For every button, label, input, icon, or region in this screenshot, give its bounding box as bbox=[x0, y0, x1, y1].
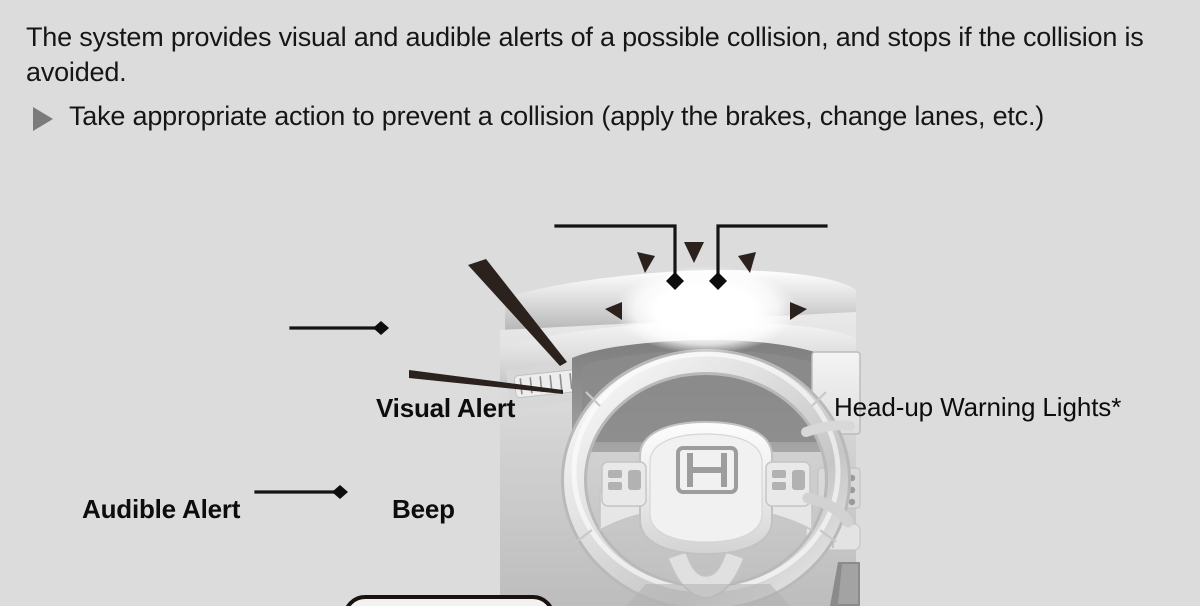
intro-paragraph: The system provides visual and audible a… bbox=[26, 20, 1176, 90]
head-up-warning-light-glow bbox=[614, 266, 798, 354]
label-head-up-warning-lights: Head-up Warning Lights* bbox=[834, 391, 1124, 424]
dashboard-diagram: Visual Alert Audible Alert Beep Head-up … bbox=[0, 180, 1200, 606]
steering-controls-left[interactable] bbox=[602, 462, 646, 506]
label-audible-alert: Audible Alert bbox=[82, 494, 240, 525]
triangle-bullet-icon bbox=[33, 107, 53, 131]
brake-display-callout: BRAKE bbox=[343, 595, 555, 606]
manual-page: The system provides visual and audible a… bbox=[0, 0, 1200, 606]
bullet-item-text: Take appropriate action to prevent a col… bbox=[69, 98, 1044, 134]
label-visual-alert-headup: Visual Alert bbox=[376, 393, 515, 424]
bullet-item: Take appropriate action to prevent a col… bbox=[33, 98, 1113, 134]
label-beep: Beep bbox=[392, 494, 455, 525]
